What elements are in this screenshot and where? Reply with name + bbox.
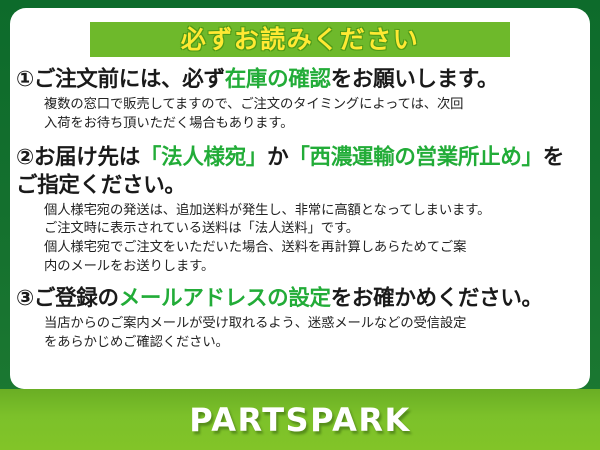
notice-item-3-heading-pre: ご登録の: [34, 286, 119, 311]
notice-item-3-detail: 当店からのご案内メールが受け取れるよう、迷惑メールなどの受信設定 をあらかじめご…: [16, 315, 584, 353]
notice-item-1-detail: 複数の窓口で販売してますので、ご注文のタイミングによっては、次回 入荷をお待ち頂…: [16, 96, 584, 134]
notice-item-2-heading-highlight: 「法人様宛」: [140, 145, 267, 170]
notice-item-1-heading-highlight: 在庫の確認: [225, 67, 331, 92]
notice-item-2-heading-mid: か: [267, 145, 288, 170]
notice-item-2-detail-line-2: ご注文時に表示されている送料は「法人送料」です。: [44, 220, 578, 239]
notice-item-1-heading: ①ご注文前には、必ず在庫の確認をお願いします。: [16, 66, 584, 94]
footer-brand-band: PARTSPARK: [0, 389, 600, 450]
notice-item-1-marker: ①: [16, 67, 34, 92]
notice-item-2-marker: ②: [16, 145, 34, 170]
notice-item-3-heading-post: をお確かめください。: [331, 286, 543, 311]
notice-item-2-heading-pre: お届け先は: [34, 145, 140, 170]
notice-item-2-detail-line-4: 内のメールをお送りします。: [44, 258, 578, 277]
notice-item-1-heading-post: をお願いします。: [331, 67, 498, 92]
notice-item-1-heading-pre: ご注文前には、必ず: [34, 67, 225, 92]
notice-item-2-heading-highlight-2: 「西濃運輸の営業所止め」: [288, 145, 542, 170]
notice-item-3-detail-line-2: をあらかじめご確認ください。: [44, 334, 578, 353]
notice-item-1: ①ご注文前には、必ず在庫の確認をお願いします。 複数の窓口で販売してますので、ご…: [16, 66, 584, 134]
notice-item-1-detail-line-2: 入荷をお待ち頂いただく場合もあります。: [44, 115, 578, 134]
notice-item-3-heading-highlight: メールアドレスの設定: [119, 286, 331, 311]
brand-wordmark: PARTSPARK: [189, 404, 411, 436]
notice-item-3-marker: ③: [16, 286, 34, 311]
notice-item-2-detail: 個人様宅宛の発送は、追加送料が発生し、非常に高額となってしまいます。 ご注文時に…: [16, 202, 584, 278]
notice-item-2-heading: ②お届け先は「法人様宛」か「西濃運輸の営業所止め」をご指定ください。: [16, 144, 584, 200]
notice-item-3-detail-line-1: 当店からのご案内メールが受け取れるよう、迷惑メールなどの受信設定: [44, 315, 578, 334]
notice-item-2-detail-line-3: 個人様宅宛でご注文をいただいた場合、送料を再計算しあらためてご案: [44, 239, 578, 258]
header-band: 必ずお読みください: [90, 22, 510, 57]
notice-item-2-detail-line-1: 個人様宅宛の発送は、追加送料が発生し、非常に高額となってしまいます。: [44, 202, 578, 221]
notice-item-1-detail-line-1: 複数の窓口で販売してますので、ご注文のタイミングによっては、次回: [44, 96, 578, 115]
header-title: 必ずお読みください: [181, 27, 420, 52]
notice-banner: 必ずお読みください ①ご注文前には、必ず在庫の確認をお願いします。 複数の窓口で…: [0, 0, 600, 450]
notice-item-2: ②お届け先は「法人様宛」か「西濃運輸の営業所止め」をご指定ください。 個人様宅宛…: [16, 144, 584, 277]
notice-item-3: ③ご登録のメールアドレスの設定をお確かめください。 当店からのご案内メールが受け…: [16, 285, 584, 353]
notice-item-3-heading: ③ご登録のメールアドレスの設定をお確かめください。: [16, 285, 584, 313]
notice-items-list: ①ご注文前には、必ず在庫の確認をお願いします。 複数の窓口で販売してますので、ご…: [10, 66, 590, 353]
notice-card: 必ずお読みください ①ご注文前には、必ず在庫の確認をお願いします。 複数の窓口で…: [10, 8, 590, 389]
